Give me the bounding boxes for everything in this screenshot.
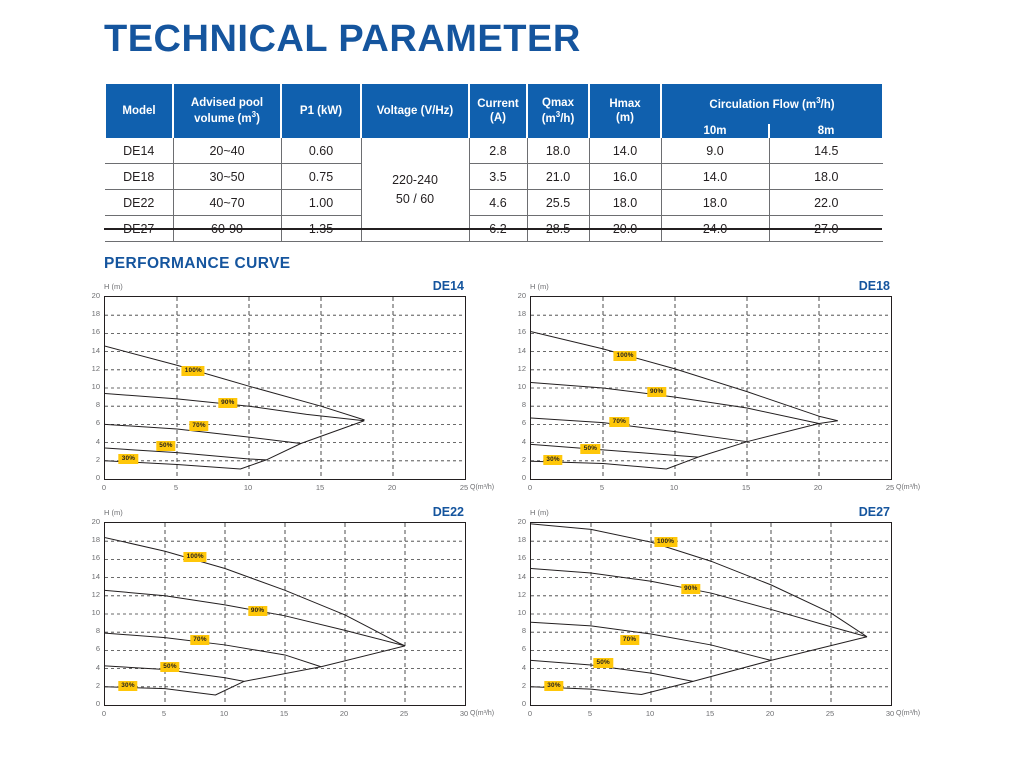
y-tick-label: 18 xyxy=(84,310,100,318)
col-header-advised-pool-volume: Advised pool volume (m3) xyxy=(173,84,281,138)
chart-y-axis-label: H (m) xyxy=(104,508,123,517)
x-tick-label: 20 xyxy=(382,484,402,492)
cell-flow8: 14.5 xyxy=(769,138,883,164)
x-tick-label: 25 xyxy=(394,710,414,718)
y-tick-label: 0 xyxy=(510,474,526,482)
y-tick-label: 14 xyxy=(510,573,526,581)
x-tick-label: 5 xyxy=(166,484,186,492)
x-tick-label: 5 xyxy=(580,710,600,718)
x-tick-label: 15 xyxy=(700,710,720,718)
technical-parameter-page: TECHNICAL PARAMETER Model Advised pool v… xyxy=(0,0,1024,768)
y-tick-label: 20 xyxy=(84,518,100,526)
y-tick-label: 6 xyxy=(84,419,100,427)
chart-y-axis-label: H (m) xyxy=(104,282,123,291)
y-tick-label: 8 xyxy=(510,627,526,635)
y-tick-label: 12 xyxy=(84,365,100,373)
chart-de18: H (m)DE18100%90%70%50%30%024681012141618… xyxy=(530,296,890,478)
chart-title: DE18 xyxy=(859,279,890,293)
curve-label-100pct: 100% xyxy=(184,552,207,562)
cell-qmax: 25.5 xyxy=(527,190,589,216)
cell-hmax: 16.0 xyxy=(589,164,661,190)
col-header-current: Current (A) xyxy=(469,84,527,138)
y-tick-label: 8 xyxy=(84,627,100,635)
curve-50pct xyxy=(531,442,747,457)
curve-100pct xyxy=(105,346,364,421)
curve-label-70pct: 70% xyxy=(620,635,639,645)
cell-volume: 20~40 xyxy=(173,138,281,164)
specification-table: Model Advised pool volume (m3) P1 (kW) V… xyxy=(104,84,884,242)
performance-curve-title: PERFORMANCE CURVE xyxy=(104,255,291,273)
y-tick-label: 16 xyxy=(84,328,100,336)
y-tick-label: 2 xyxy=(84,682,100,690)
x-tick-label: 0 xyxy=(520,710,540,718)
curve-90pct xyxy=(105,590,405,646)
chart-de22: H (m)DE22100%90%70%50%30%024681012141618… xyxy=(104,522,464,704)
curve-label-100pct: 100% xyxy=(654,537,677,547)
col-header-circ-10m: 10m xyxy=(661,124,769,138)
cell-p1: 1.00 xyxy=(281,190,361,216)
cell-current: 2.8 xyxy=(469,138,527,164)
x-tick-label: 10 xyxy=(640,710,660,718)
y-tick-label: 12 xyxy=(84,591,100,599)
y-tick-label: 16 xyxy=(510,554,526,562)
table-row: DE22 40~70 1.00 4.6 25.5 18.0 18.0 22.0 xyxy=(105,190,883,216)
x-tick-label: 0 xyxy=(94,710,114,718)
chart-plot-area xyxy=(104,296,466,480)
table-row: DE14 20~40 0.60 220-240 50 / 60 2.8 18.0… xyxy=(105,138,883,164)
chart-x-axis-label: Q(m³/h) xyxy=(896,484,920,491)
cell-qmax: 18.0 xyxy=(527,138,589,164)
y-tick-label: 16 xyxy=(510,328,526,336)
cell-current: 3.5 xyxy=(469,164,527,190)
y-tick-label: 14 xyxy=(84,573,100,581)
col-header-circulation-flow: Circulation Flow (m3/h) xyxy=(661,84,883,124)
cell-hmax: 18.0 xyxy=(589,190,661,216)
x-tick-label: 20 xyxy=(808,484,828,492)
curve-50pct xyxy=(105,666,321,681)
cell-p1: 0.60 xyxy=(281,138,361,164)
page-title: TECHNICAL PARAMETER xyxy=(104,20,581,58)
x-tick-label: 10 xyxy=(664,484,684,492)
y-tick-label: 6 xyxy=(510,419,526,427)
y-tick-label: 20 xyxy=(510,518,526,526)
y-tick-label: 12 xyxy=(510,365,526,373)
curve-label-70pct: 70% xyxy=(610,417,629,427)
x-tick-label: 15 xyxy=(274,710,294,718)
x-tick-label: 0 xyxy=(94,484,114,492)
col-header-voltage: Voltage (V/Hz) xyxy=(361,84,469,138)
curve-90pct xyxy=(531,569,867,637)
curve-label-90pct: 90% xyxy=(681,584,700,594)
cell-flow10: 14.0 xyxy=(661,164,769,190)
chart-plot-area xyxy=(104,522,466,706)
y-tick-label: 4 xyxy=(510,438,526,446)
y-tick-label: 14 xyxy=(510,347,526,355)
curve-label-90pct: 90% xyxy=(647,387,666,397)
cell-current: 4.6 xyxy=(469,190,527,216)
y-tick-label: 18 xyxy=(84,536,100,544)
curve-label-30pct: 30% xyxy=(544,681,563,691)
y-tick-label: 20 xyxy=(510,292,526,300)
x-tick-label: 20 xyxy=(334,710,354,718)
chart-x-axis-label: Q(m³/h) xyxy=(470,710,494,717)
y-tick-label: 18 xyxy=(510,310,526,318)
curve-100pct xyxy=(531,332,838,421)
curve-label-70pct: 70% xyxy=(189,421,208,431)
y-tick-label: 0 xyxy=(84,700,100,708)
chart-title: DE22 xyxy=(433,505,464,519)
chart-de27: H (m)DE27100%90%70%50%30%024681012141618… xyxy=(530,522,890,704)
y-tick-label: 0 xyxy=(84,474,100,482)
curve-label-50pct: 50% xyxy=(156,441,175,451)
chart-de14: H (m)DE14100%90%70%50%30%024681012141618… xyxy=(104,296,464,478)
col-header-p1: P1 (kW) xyxy=(281,84,361,138)
cell-voltage: 220-240 50 / 60 xyxy=(361,138,469,242)
y-tick-label: 14 xyxy=(84,347,100,355)
cell-volume: 40~70 xyxy=(173,190,281,216)
cell-flow10: 18.0 xyxy=(661,190,769,216)
col-header-qmax: Qmax (m3/h) xyxy=(527,84,589,138)
x-tick-label: 0 xyxy=(520,484,540,492)
y-tick-label: 10 xyxy=(510,383,526,391)
table-bottom-rule xyxy=(104,228,882,230)
y-tick-label: 2 xyxy=(510,456,526,464)
table-body: DE14 20~40 0.60 220-240 50 / 60 2.8 18.0… xyxy=(105,138,883,242)
y-tick-label: 2 xyxy=(84,456,100,464)
y-tick-label: 10 xyxy=(84,609,100,617)
chart-y-axis-label: H (m) xyxy=(530,282,549,291)
curve-label-100pct: 100% xyxy=(182,366,205,376)
curve-label-50pct: 50% xyxy=(593,658,612,668)
table-header: Model Advised pool volume (m3) P1 (kW) V… xyxy=(105,84,883,138)
curve-label-100pct: 100% xyxy=(613,351,636,361)
y-tick-label: 4 xyxy=(510,664,526,672)
chart-title: DE14 xyxy=(433,279,464,293)
y-tick-label: 6 xyxy=(84,645,100,653)
y-tick-label: 8 xyxy=(84,401,100,409)
curve-label-70pct: 70% xyxy=(190,635,209,645)
chart-x-axis-label: Q(m³/h) xyxy=(896,710,920,717)
chart-title: DE27 xyxy=(859,505,890,519)
curve-label-30pct: 30% xyxy=(543,455,562,465)
curve-70pct xyxy=(105,633,405,667)
cell-hmax: 14.0 xyxy=(589,138,661,164)
cell-flow8: 22.0 xyxy=(769,190,883,216)
x-tick-label: 15 xyxy=(736,484,756,492)
y-tick-label: 10 xyxy=(510,609,526,617)
x-tick-label: 5 xyxy=(592,484,612,492)
curve-90pct xyxy=(531,383,838,424)
curve-label-30pct: 30% xyxy=(119,454,138,464)
col-header-circ-8m: 8m xyxy=(769,124,883,138)
cell-flow8: 18.0 xyxy=(769,164,883,190)
cell-model: DE18 xyxy=(105,164,173,190)
curve-label-90pct: 90% xyxy=(248,606,267,616)
curve-label-30pct: 30% xyxy=(118,681,137,691)
y-tick-label: 20 xyxy=(84,292,100,300)
curve-label-50pct: 50% xyxy=(581,444,600,454)
y-tick-label: 6 xyxy=(510,645,526,653)
y-tick-label: 18 xyxy=(510,536,526,544)
y-tick-label: 10 xyxy=(84,383,100,391)
curve-100pct xyxy=(105,538,405,646)
chart-x-axis-label: Q(m³/h) xyxy=(470,484,494,491)
cell-qmax: 21.0 xyxy=(527,164,589,190)
chart-y-axis-label: H (m) xyxy=(530,508,549,517)
x-tick-label: 10 xyxy=(238,484,258,492)
curve-label-50pct: 50% xyxy=(160,662,179,672)
table-row: DE18 30~50 0.75 3.5 21.0 16.0 14.0 18.0 xyxy=(105,164,883,190)
x-tick-label: 5 xyxy=(154,710,174,718)
y-tick-label: 0 xyxy=(510,700,526,708)
y-tick-label: 16 xyxy=(84,554,100,562)
y-tick-label: 2 xyxy=(510,682,526,690)
x-tick-label: 25 xyxy=(820,710,840,718)
y-tick-label: 12 xyxy=(510,591,526,599)
cell-flow10: 9.0 xyxy=(661,138,769,164)
y-tick-label: 4 xyxy=(84,664,100,672)
x-tick-label: 20 xyxy=(760,710,780,718)
cell-p1: 0.75 xyxy=(281,164,361,190)
y-tick-label: 4 xyxy=(84,438,100,446)
cell-model: DE22 xyxy=(105,190,173,216)
x-tick-label: 10 xyxy=(214,710,234,718)
curve-70pct xyxy=(531,622,867,660)
col-header-model: Model xyxy=(105,84,173,138)
y-tick-label: 8 xyxy=(510,401,526,409)
cell-model: DE14 xyxy=(105,138,173,164)
x-tick-label: 15 xyxy=(310,484,330,492)
cell-volume: 30~50 xyxy=(173,164,281,190)
col-header-hmax: Hmax (m) xyxy=(589,84,661,138)
curve-label-90pct: 90% xyxy=(218,398,237,408)
chart-plot-area xyxy=(530,522,892,706)
